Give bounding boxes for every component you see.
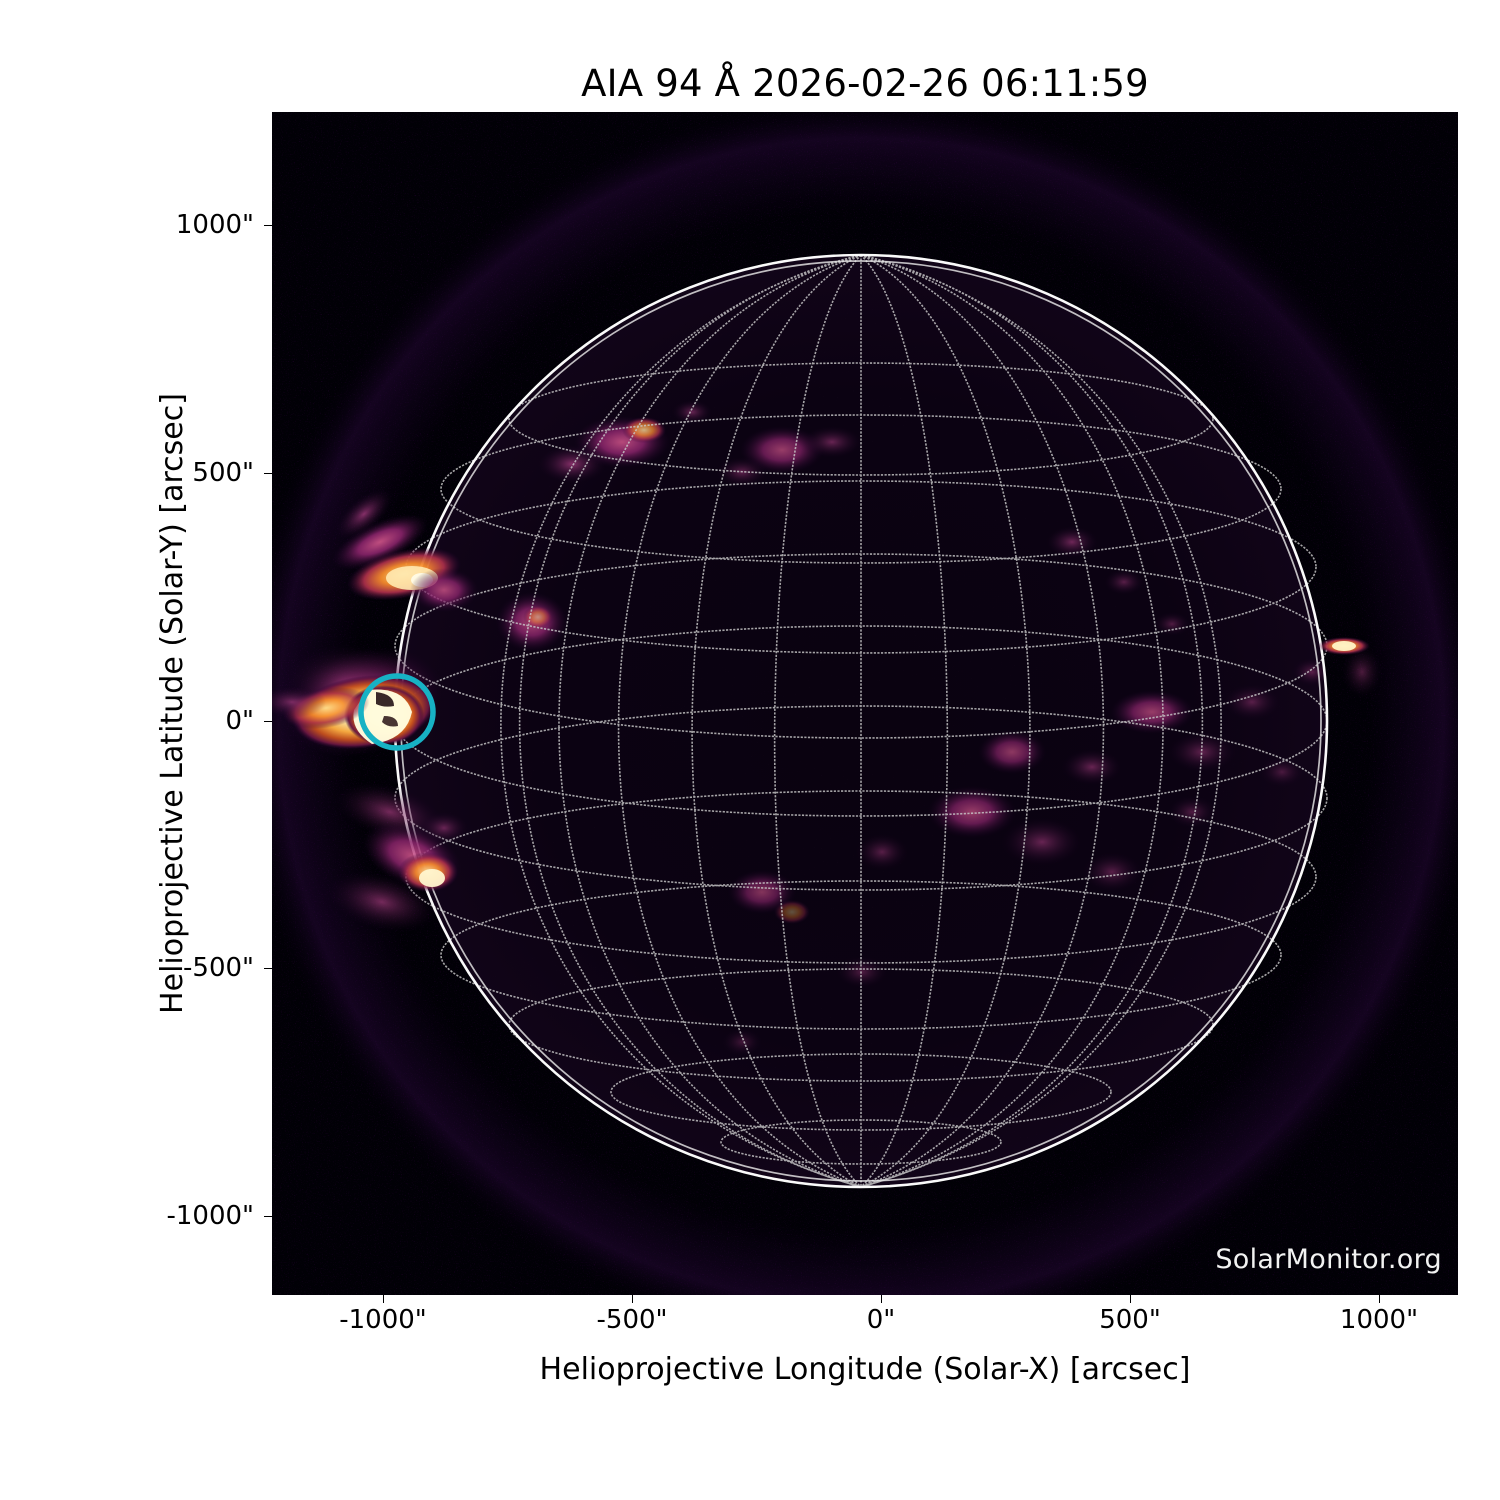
x-tick-label-0: -1000" (339, 1305, 427, 1335)
watermark-label: SolarMonitor.org (1215, 1244, 1442, 1275)
tick-x-3 (1130, 1295, 1131, 1303)
x-tick-label-1: -500" (597, 1305, 668, 1335)
tick-y-2 (264, 721, 272, 722)
tick-y-0 (264, 1216, 272, 1217)
solar-disk-render (272, 112, 1458, 1295)
solar-image-plot-area[interactable]: SolarMonitor.org (272, 112, 1458, 1295)
solar-image-figure: AIA 94 Å 2026-02-26 06:11:59 (0, 0, 1500, 1500)
figure-title: AIA 94 Å 2026-02-26 06:11:59 (272, 62, 1458, 105)
tick-y-3 (264, 473, 272, 474)
x-axis-label: Helioprojective Longitude (Solar-X) [arc… (272, 1352, 1458, 1387)
tick-x-1 (632, 1295, 633, 1303)
y-axis-label: Helioprojective Latitude (Solar-Y) [arcs… (155, 112, 190, 1295)
tick-x-2 (881, 1295, 882, 1303)
tick-x-0 (383, 1295, 384, 1303)
x-tick-label-3: 500" (1099, 1305, 1161, 1335)
x-tick-label-2: 0" (867, 1305, 896, 1335)
tick-y-4 (264, 225, 272, 226)
tick-y-1 (264, 968, 272, 969)
x-tick-label-4: 1000" (1340, 1305, 1418, 1335)
tick-x-4 (1379, 1295, 1380, 1303)
